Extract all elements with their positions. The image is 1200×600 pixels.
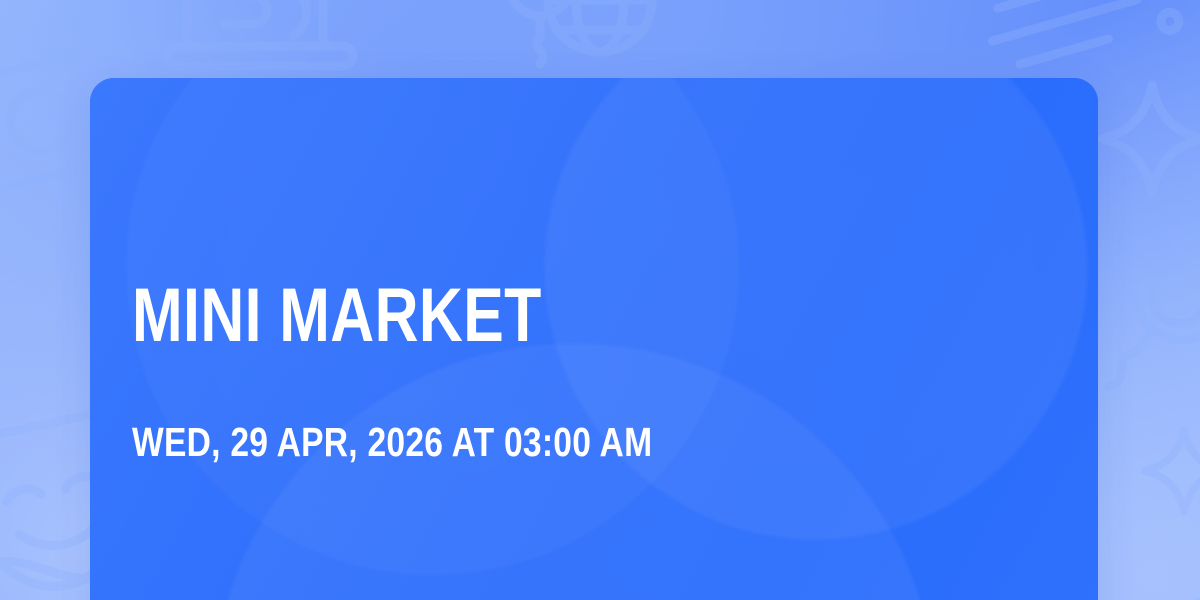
sparkle-icon xyxy=(1102,85,1200,193)
banner-canvas: Mini Market Wed, 29 Apr, 2026 at 03:00 A… xyxy=(0,0,1200,600)
sparkle-icon xyxy=(1145,430,1200,512)
event-card[interactable]: Mini Market Wed, 29 Apr, 2026 at 03:00 A… xyxy=(90,78,1098,600)
event-datetime: Wed, 29 Apr, 2026 at 03:00 AM xyxy=(132,418,652,466)
laptop-icon xyxy=(167,0,353,66)
confetti-icon xyxy=(1088,569,1200,600)
event-title: Mini Market xyxy=(132,274,542,358)
confetti-icon xyxy=(982,0,1181,78)
card-content: Mini Market Wed, 29 Apr, 2026 at 03:00 A… xyxy=(132,78,1058,600)
